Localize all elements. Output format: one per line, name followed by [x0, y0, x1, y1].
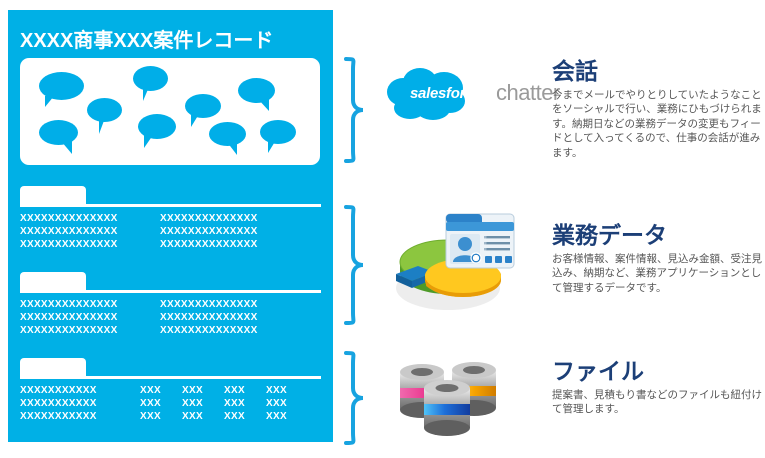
field-value: XXXXXXXXXXXXXX [160, 238, 300, 251]
speech-bubble-icon [39, 120, 78, 145]
feature-title: 会話 [552, 58, 765, 84]
field-value: XXXXXXXXXXXXXX [160, 298, 300, 311]
table-row: XXXXXXXXXXXXXXXXXXXXXXXXXXXX [20, 238, 321, 251]
feature-text-block: 業務データ お客様情報、案件情報、見込み金額、受注見込み、納期など、業務アプリケ… [552, 222, 765, 295]
section-divider [20, 204, 321, 207]
field-rows: XXXXXXXXXXXXXXXXXXXXXXX XXXXXXXXXXXXXXXX… [20, 384, 321, 423]
page-title: XXXX商事XXX案件レコード [20, 24, 273, 53]
field-value: XXXXXXXXXXXXXX [20, 324, 160, 337]
record-section: XXXXXXXXXXXXXXXXXXXXXXX XXXXXXXXXXXXXXXX… [20, 358, 321, 380]
field-value: XXXXXXXXXXXXXX [160, 311, 300, 324]
speech-bubble-icon [138, 114, 176, 139]
section-tab[interactable] [20, 272, 86, 290]
section-divider [20, 376, 321, 379]
field-value: XXXXXXXXXXXXXX [160, 225, 300, 238]
salesforce-wordmark: salesforce [410, 85, 481, 102]
section-tab-header [20, 358, 321, 380]
cell-value: XXX [140, 410, 182, 423]
feature-description: お客様情報、案件情報、見込み金額、受注見込み、納期など、業務アプリケーションとし… [552, 252, 765, 295]
brace-icon [340, 350, 366, 446]
feature-description: 今までメールでやりとりしていたようなことをソーシャルで行い、業務にひもづけられま… [552, 88, 765, 160]
table-row: XXXXXXXXXXXXXXXXXXXXXXXXXXXX [20, 298, 321, 311]
cell-value: XXX [266, 410, 308, 423]
field-value: XXXXXXXXXXXXXX [20, 298, 160, 311]
speech-bubble-icon [87, 98, 122, 122]
speech-bubble-icon [39, 72, 84, 100]
record-panel: XXXX商事XXX案件レコード [8, 10, 333, 442]
cell-value: XXX [182, 397, 224, 410]
chatter-wordmark: chatter [496, 80, 560, 106]
speech-bubble-icon [260, 120, 296, 144]
cell-value: XXX [140, 397, 182, 410]
field-rows: XXXXXXXXXXXXXXXXXXXXXXXXXXXX XXXXXXXXXXX… [20, 212, 321, 251]
cell-value: XXX [140, 384, 182, 397]
cell-value: XXX [266, 384, 308, 397]
field-value: XXXXXXXXXXXXXX [20, 212, 160, 225]
record-section: XXXXXXXXXXXXXXXXXXXXXXXXXXXX XXXXXXXXXXX… [20, 186, 321, 208]
chatter-feed-card [20, 58, 320, 165]
field-value: XXXXXXXXXXXXXX [160, 212, 300, 225]
cell-name: XXXXXXXXXXX [20, 410, 140, 423]
cell-value: XXX [224, 384, 266, 397]
feature-description: 提案書、見積もり書などのファイルも紐付けて管理します。 [552, 388, 765, 417]
table-row: XXXXXXXXXXXXXXXXXXXXXXXXXXXX [20, 212, 321, 225]
section-divider [20, 290, 321, 293]
feature-text-block: ファイル 提案書、見積もり書などのファイルも紐付けて管理します。 [552, 358, 765, 417]
section-tab[interactable] [20, 186, 86, 204]
cell-value: XXX [266, 397, 308, 410]
brace-icon [340, 204, 366, 326]
field-value: XXXXXXXXXXXXXX [160, 324, 300, 337]
table-row: XXXXXXXXXXXXXXXXXXXXXXX [20, 410, 321, 423]
feature-title: ファイル [552, 358, 765, 384]
section-tab[interactable] [20, 358, 86, 376]
database-stack-icon [390, 358, 540, 458]
field-value: XXXXXXXXXXXXXX [20, 225, 160, 238]
table-row: XXXXXXXXXXXXXXXXXXXXXXXXXXXX [20, 225, 321, 238]
field-value: XXXXXXXXXXXXXX [20, 238, 160, 251]
table-row: XXXXXXXXXXXXXXXXXXXXXXX [20, 384, 321, 397]
cell-name: XXXXXXXXXXX [20, 397, 140, 410]
brace-icon [340, 56, 366, 164]
table-row: XXXXXXXXXXXXXXXXXXXXXXXXXXXX [20, 311, 321, 324]
speech-bubble-icon [133, 66, 168, 91]
speech-bubble-icon [185, 94, 221, 118]
field-rows: XXXXXXXXXXXXXXXXXXXXXXXXXXXX XXXXXXXXXXX… [20, 298, 321, 337]
salesforce-chatter-logo-icon: salesforce chatter [386, 64, 536, 164]
cell-name: XXXXXXXXXXX [20, 384, 140, 397]
speech-bubble-icon [209, 122, 246, 146]
pie-chart-contact-card-icon [390, 210, 540, 310]
table-row: XXXXXXXXXXXXXXXXXXXXXXXXXXXX [20, 324, 321, 337]
feature-title: 業務データ [552, 222, 765, 248]
infographic-canvas: XXXX商事XXX案件レコード [0, 0, 765, 452]
cell-value: XXX [182, 410, 224, 423]
cell-value: XXX [224, 410, 266, 423]
speech-bubble-icon [238, 78, 275, 103]
section-tab-header [20, 186, 321, 208]
table-row: XXXXXXXXXXXXXXXXXXXXXXX [20, 397, 321, 410]
section-tab-header [20, 272, 321, 294]
feature-text-block: 会話 今までメールでやりとりしていたようなことをソーシャルで行い、業務にひもづけ… [552, 58, 765, 160]
cell-value: XXX [182, 384, 224, 397]
record-section: XXXXXXXXXXXXXXXXXXXXXXXXXXXX XXXXXXXXXXX… [20, 272, 321, 294]
cell-value: XXX [224, 397, 266, 410]
field-value: XXXXXXXXXXXXXX [20, 311, 160, 324]
